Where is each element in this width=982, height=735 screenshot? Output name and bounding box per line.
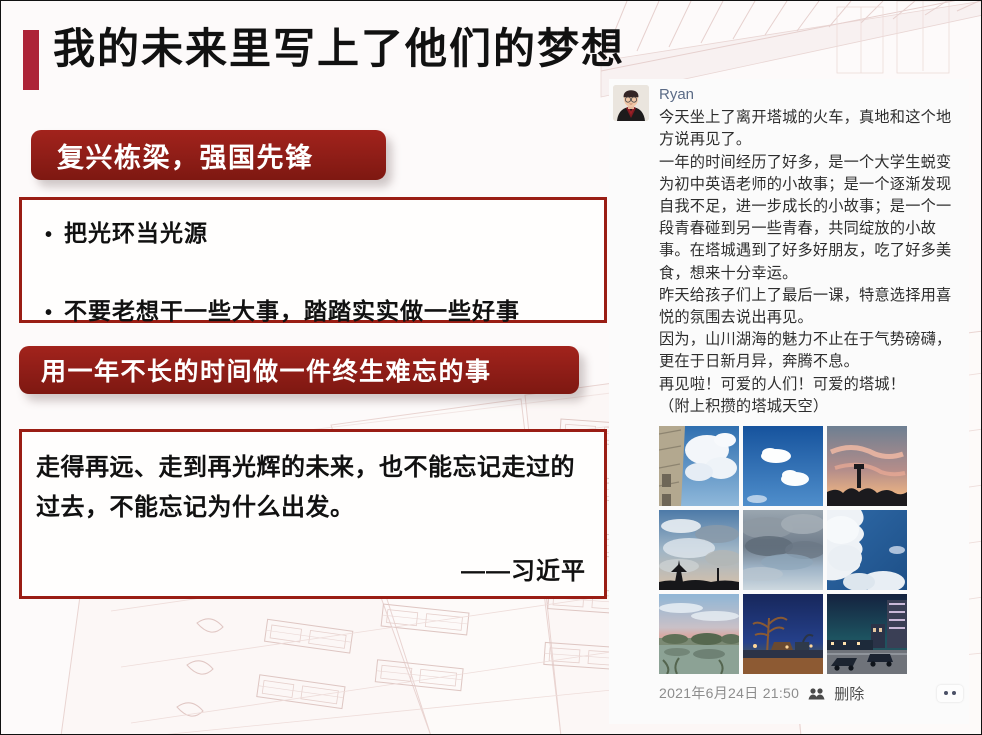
list-item: • 把光环当光源 — [34, 214, 594, 248]
avatar[interactable] — [613, 85, 649, 121]
two-people-icon[interactable] — [808, 687, 825, 700]
dot — [952, 691, 956, 695]
social-post-card: Ryan 今天坐上了离开塔城的火车，真地和这个地方说再见了。 一年的时间经历了好… — [609, 79, 969, 724]
post-author[interactable]: Ryan — [659, 85, 961, 105]
post-photo[interactable] — [827, 426, 907, 506]
page-title: 我的未来里写上了他们的梦想 — [53, 27, 625, 71]
quote-text: 走得再远、走到再光辉的未来，也不能忘记走过的过去，不能忘记为什么出发。 — [36, 448, 586, 527]
list-item: • 不要老想干一些大事，踏踏实实做一些好事 — [34, 292, 594, 326]
bullet-list: • 把光环当光源 • 不要老想干一些大事，踏踏实实做一些好事 — [34, 214, 594, 326]
post-meta-row: 2021年6月24日 21:50 删除 — [659, 683, 969, 704]
bullet-callout-box: • 把光环当光源 • 不要老想干一些大事，踏踏实实做一些好事 — [19, 197, 607, 323]
section-badge-primary-label: 复兴栋梁，强国先锋 — [57, 136, 314, 175]
post-photo[interactable] — [827, 510, 907, 590]
bullet-text: 不要老想干一些大事，踏踏实实做一些好事 — [64, 292, 520, 326]
section-badge-secondary-label: 用一年不长的时间做一件终生难忘的事 — [41, 352, 492, 388]
dot — [944, 691, 948, 695]
quote-attribution: ——习近平 — [36, 551, 586, 586]
quote-callout-box: 走得再远、走到再光辉的未来，也不能忘记走过的过去，不能忘记为什么出发。 ——习近… — [19, 429, 607, 599]
post-timestamp: 2021年6月24日 21:50 — [659, 683, 799, 703]
section-badge-primary: 复兴栋梁，强国先锋 — [31, 130, 386, 180]
more-dots-icon[interactable] — [937, 685, 963, 702]
slide-title-row: 我的未来里写上了他们的梦想 — [23, 27, 625, 90]
post-photo[interactable] — [659, 510, 739, 590]
post-body: Ryan 今天坐上了离开塔城的火车，真地和这个地方说再见了。 一年的时间经历了好… — [659, 85, 961, 418]
photo-grid — [659, 426, 969, 674]
post-header: Ryan 今天坐上了离开塔城的火车，真地和这个地方说再见了。 一年的时间经历了好… — [609, 79, 969, 418]
bullet-marker-icon: • — [34, 224, 64, 247]
title-accent-bar — [23, 30, 39, 90]
bullet-text: 把光环当光源 — [64, 214, 208, 248]
post-photo[interactable] — [827, 594, 907, 674]
post-photo[interactable] — [743, 426, 823, 506]
post-photo[interactable] — [659, 594, 739, 674]
post-photo[interactable] — [659, 426, 739, 506]
post-photo[interactable] — [743, 594, 823, 674]
delete-button[interactable]: 删除 — [834, 683, 864, 704]
slide-canvas: 我的未来里写上了他们的梦想 复兴栋梁，强国先锋 • 把光环当光源 • 不要老想干… — [0, 0, 982, 735]
bullet-marker-icon: • — [34, 302, 64, 325]
post-photo[interactable] — [743, 510, 823, 590]
post-text: 今天坐上了离开塔城的火车，真地和这个地方说再见了。 一年的时间经历了好多，是一个… — [659, 107, 961, 418]
section-badge-secondary: 用一年不长的时间做一件终生难忘的事 — [19, 346, 579, 394]
